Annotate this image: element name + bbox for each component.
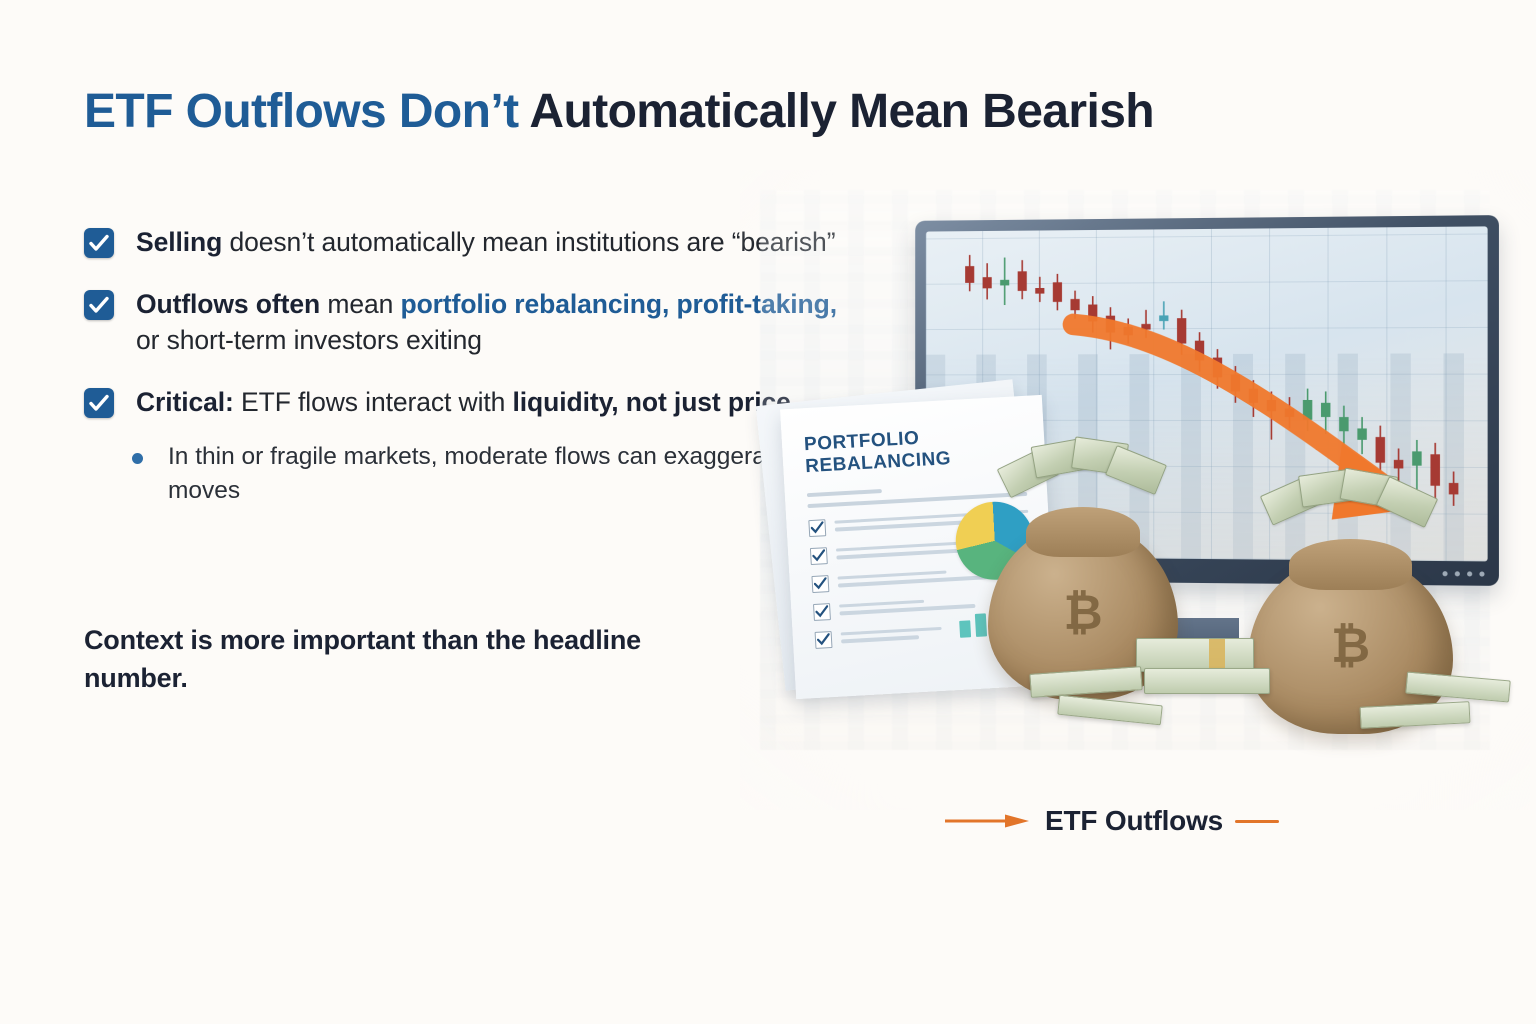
caption-text: ETF Outflows xyxy=(1045,805,1223,837)
caption: ETF Outflows xyxy=(945,795,1365,847)
monitor-led xyxy=(1467,571,1472,576)
bag-neck xyxy=(1289,539,1412,590)
list-item-text: Selling doesn’t automatically mean insti… xyxy=(136,224,844,260)
checkbox-checked-icon xyxy=(84,228,114,258)
checkbox-checked-icon xyxy=(84,290,114,320)
bullet-dot-icon xyxy=(132,453,143,464)
checkbox-checked-icon xyxy=(84,388,114,418)
closing-statement: Context is more important than the headl… xyxy=(84,622,704,698)
bullet-2-bold: Outflows often xyxy=(136,289,320,319)
bar xyxy=(959,620,971,637)
list-item: Critical: ETF flows interact with liquid… xyxy=(84,384,844,420)
caption-tail-line xyxy=(1235,820,1279,823)
list-item-text: Outflows often mean portfolio rebalancin… xyxy=(136,286,844,358)
title-part-blue: ETF Outflows Don’t xyxy=(84,85,529,138)
page-title: ETF Outflows Don’t Automatically Mean Be… xyxy=(84,84,1384,139)
bitcoin-symbol: ₿ xyxy=(988,585,1178,641)
arrow-right-icon xyxy=(945,813,1031,829)
sub-list-item: In thin or fragile markets, moderate flo… xyxy=(84,440,844,508)
checkbox-checked-icon xyxy=(808,519,826,537)
cash-stack xyxy=(1144,668,1270,694)
cash-stack xyxy=(1136,638,1254,672)
bag-neck xyxy=(1026,507,1140,558)
list-item: Selling doesn’t automatically mean insti… xyxy=(84,224,844,260)
monitor-led xyxy=(1455,571,1460,576)
checkbox-checked-icon xyxy=(810,547,828,565)
document-rule xyxy=(807,489,882,497)
bitcoin-symbol: ₿ xyxy=(1248,618,1453,674)
money-bag-right: ₿ xyxy=(1248,502,1453,734)
checkbox-checked-icon xyxy=(815,631,833,649)
bar xyxy=(975,613,987,637)
bullet-2-mid: mean xyxy=(320,289,400,319)
bullet-3-bold: Critical: xyxy=(136,387,234,417)
bullet-1-bold: Selling xyxy=(136,227,222,257)
list-item-text: Critical: ETF flows interact with liquid… xyxy=(136,384,844,420)
title-part-dark: Automatically Mean Bearish xyxy=(529,85,1154,138)
bullet-list: Selling doesn’t automatically mean insti… xyxy=(84,224,844,534)
bullet-2-rest: or short-term investors exiting xyxy=(136,325,482,355)
illustration: PORTFOLIO REBALANCING xyxy=(740,170,1530,810)
slide-canvas: ETF Outflows Don’t Automatically Mean Be… xyxy=(0,0,1536,1024)
cash-band xyxy=(1209,639,1225,671)
monitor-power-icon xyxy=(1479,571,1484,576)
bullet-3-mid: ETF flows interact with xyxy=(234,387,513,417)
checkbox-checked-icon xyxy=(811,575,829,593)
checkbox-checked-icon xyxy=(813,603,831,621)
list-item: Outflows often mean portfolio rebalancin… xyxy=(84,286,844,358)
